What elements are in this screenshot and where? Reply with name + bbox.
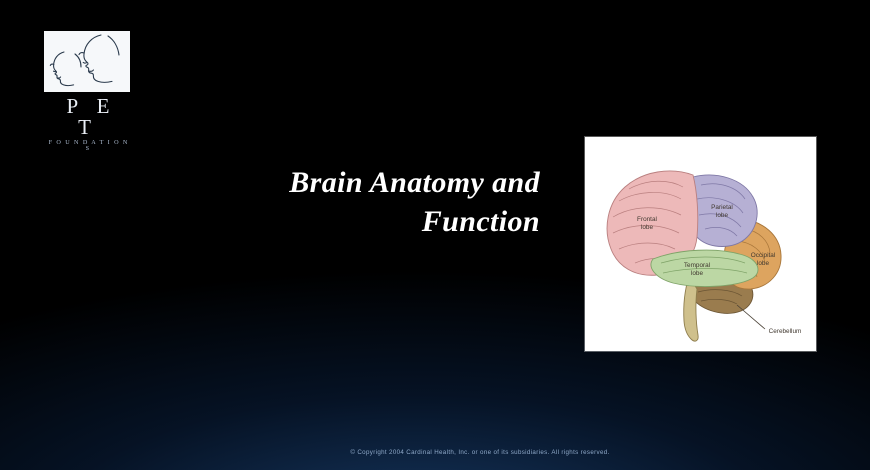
svg-text:lobe: lobe <box>641 224 654 231</box>
svg-text:Occipital: Occipital <box>751 252 776 259</box>
logo-block: P E T F O U N D A T I O N S <box>44 31 132 152</box>
svg-text:Parietal: Parietal <box>711 204 733 211</box>
brain-label-cerebellum: Cerebellum <box>769 328 802 335</box>
svg-text:lobe: lobe <box>716 212 729 219</box>
svg-text:Frontal: Frontal <box>637 216 657 223</box>
slide-title-line1: Brain Anatomy and <box>289 166 540 199</box>
presentation-slide: P E T F O U N D A T I O N S Brain Anatom… <box>0 0 870 470</box>
svg-text:Cerebellum: Cerebellum <box>769 328 802 335</box>
slide-title-line2: Function <box>422 205 540 238</box>
logo-subtitle: F O U N D A T I O N S <box>44 140 132 152</box>
svg-text:lobe: lobe <box>691 270 704 277</box>
brain-anatomy-image: Frontal lobe Parietal lobe Occipital lob… <box>585 137 816 351</box>
logo-wordmark: P E T <box>44 96 132 138</box>
copyright-footer: © Copyright 2004 Cardinal Health, Inc. o… <box>0 449 870 456</box>
svg-text:lobe: lobe <box>757 260 770 267</box>
profile-faces-icon <box>44 31 130 92</box>
slide-title: Brain Anatomy and Function <box>150 163 540 241</box>
svg-text:Temporal: Temporal <box>684 262 710 269</box>
